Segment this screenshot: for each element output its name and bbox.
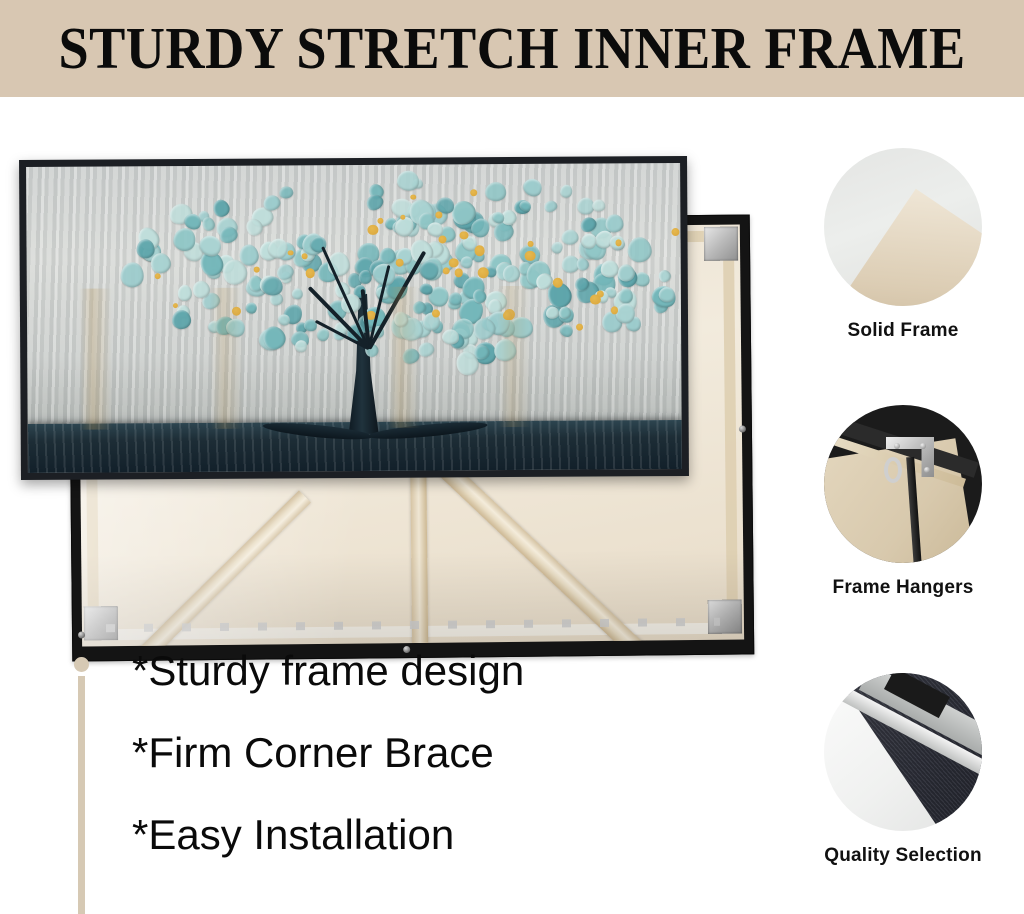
leaf [210, 197, 231, 219]
page-title: STURDY STRETCH INNER FRAME [58, 19, 965, 78]
leaf [545, 306, 559, 319]
gold-accent [474, 245, 485, 256]
painting-canvas [26, 163, 682, 473]
header-banner: STURDY STRETCH INNER FRAME [0, 0, 1024, 97]
bullet-items: *Sturdy frame design *Firm Corner Brace … [132, 650, 732, 896]
leaf [291, 287, 304, 300]
gold-accent [671, 228, 680, 237]
quality-selection-photo-icon [824, 673, 982, 831]
gold-accent [302, 253, 308, 259]
gold-accent [553, 277, 563, 287]
list-item: *Sturdy frame design [132, 650, 732, 692]
gold-accent [470, 189, 478, 197]
corner-brace-bottom-right-icon [708, 600, 742, 634]
gold-accent [254, 267, 260, 273]
gold-accent [528, 241, 534, 247]
gold-accent [615, 240, 621, 246]
corner-brace-top-right-icon [704, 227, 738, 261]
leaf [561, 229, 579, 245]
frame-corner-wood [849, 189, 982, 306]
leaf [245, 300, 260, 314]
leaf [542, 198, 559, 214]
callout-solid-frame: Solid Frame [782, 148, 1024, 342]
callout-label: Frame Hangers [782, 577, 1024, 599]
list-item: *Easy Installation [132, 814, 732, 856]
bullet-rail [78, 676, 85, 914]
gold-accent [377, 218, 383, 224]
gold-accent [306, 269, 315, 278]
bracket-screw-2 [920, 443, 926, 449]
leaf [656, 268, 673, 285]
leaf [178, 284, 192, 300]
gold-accent [525, 250, 536, 261]
framed-painting [19, 156, 689, 480]
leaf [493, 339, 517, 363]
list-item: *Firm Corner Brace [132, 732, 732, 774]
bracket-screw-3 [924, 467, 930, 473]
leaf [520, 175, 545, 199]
leaf [485, 181, 507, 201]
leaf [136, 238, 155, 258]
leaf [592, 199, 605, 211]
bracket-screw-1 [894, 443, 900, 449]
gold-accent [411, 194, 416, 199]
gold-accent [367, 225, 378, 236]
gold-accent [503, 311, 512, 320]
feature-callouts: Solid Frame Frame Hangers [782, 140, 1024, 900]
frame-hangers-photo-icon [824, 405, 982, 563]
leaf [278, 185, 293, 199]
gold-accent [478, 267, 489, 278]
gold-accent [576, 324, 583, 331]
frame-screw-left [78, 631, 85, 638]
gold-accent [154, 273, 161, 280]
callout-label: Solid Frame [782, 320, 1024, 342]
gold-accent [436, 212, 443, 219]
solid-frame-photo-icon [824, 148, 982, 306]
gold-accent [449, 258, 459, 268]
gold-accent [288, 250, 293, 255]
gold-accent [455, 269, 463, 277]
leaf [120, 261, 145, 287]
leaf [559, 184, 573, 199]
leaf [627, 236, 653, 263]
callout-frame-hangers: Frame Hangers [782, 405, 1024, 599]
bullet-rail-dot-icon [74, 657, 89, 672]
feature-bullet-list: *Sturdy frame design *Firm Corner Brace … [70, 650, 730, 914]
frame-screw-right [739, 425, 746, 432]
product-infographic: STURDY STRETCH INNER FRAME [0, 0, 1024, 914]
callout-quality-selection: Quality Selection [782, 673, 1024, 867]
gold-accent [439, 235, 447, 243]
product-photo-composite [0, 100, 790, 600]
gold-accent [443, 267, 450, 274]
callout-label: Quality Selection [782, 845, 1024, 867]
gold-accent [232, 307, 241, 316]
leaf [201, 215, 218, 232]
hanger-ring-icon [884, 457, 902, 483]
